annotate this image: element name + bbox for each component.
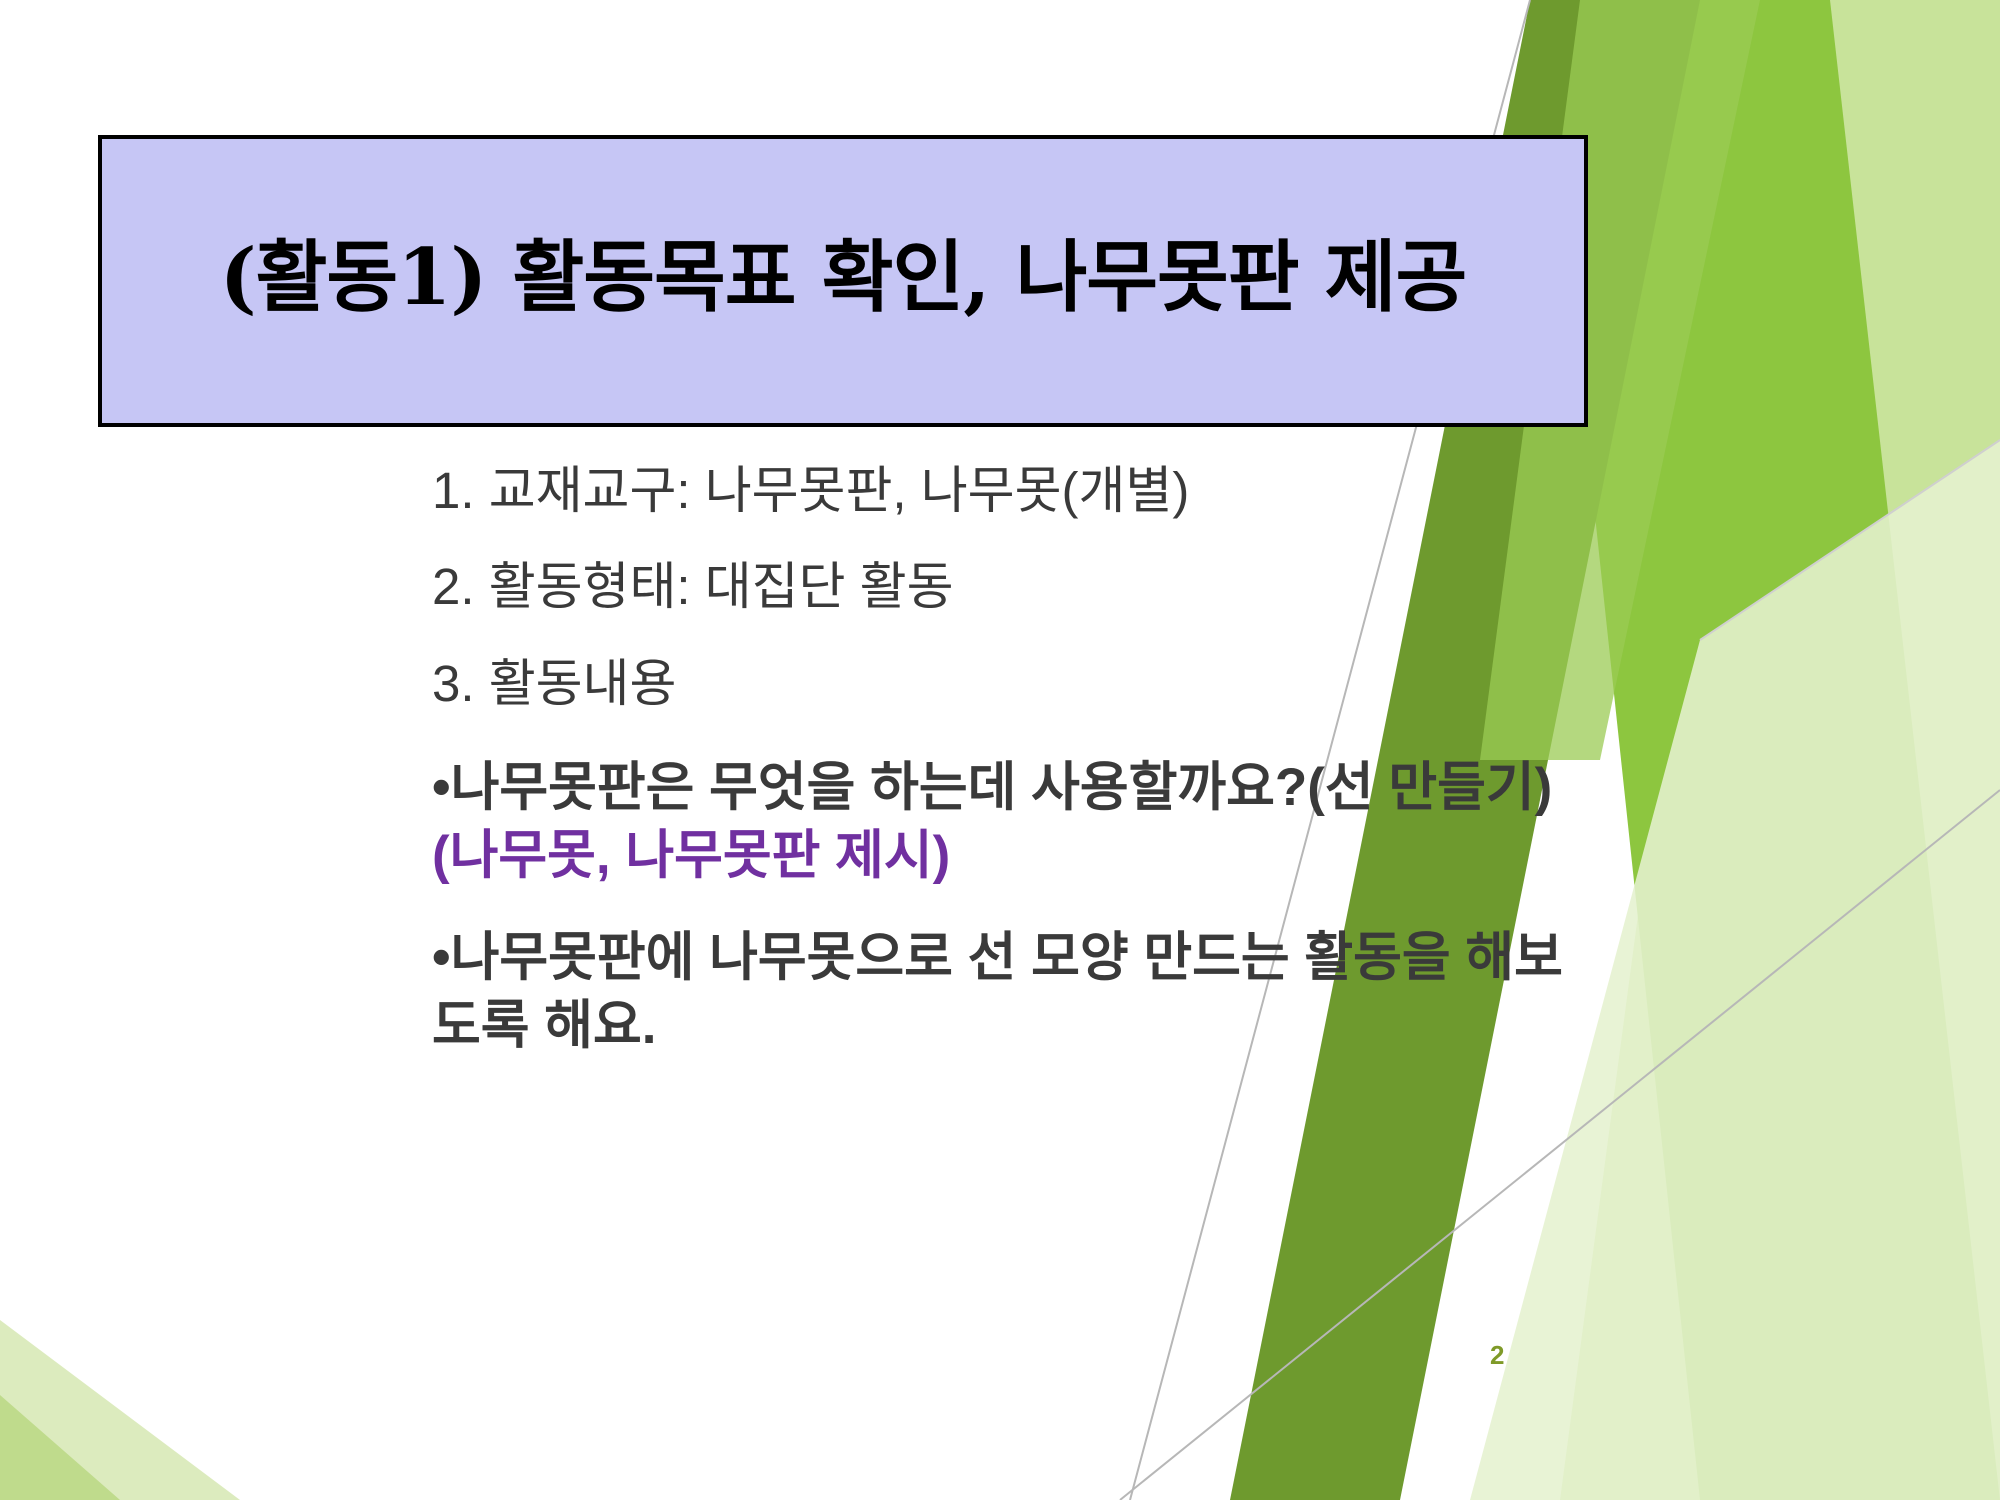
- list-item: 2. 활동형태: 대집단 활동: [432, 551, 1592, 623]
- slide-body: 1. 교재교구: 나무못판, 나무못(개별) 2. 활동형태: 대집단 활동 3…: [432, 455, 1592, 1082]
- page-title: (활동1) 활동목표 확인, 나무못판 제공: [220, 237, 1467, 325]
- bullet-item: •나무못판은 무엇을 하는데 사용할까요?(선 만들기)(나무못, 나무못판 제…: [432, 754, 1592, 890]
- slide-title-box: (활동1) 활동목표 확인, 나무못판 제공: [98, 135, 1588, 427]
- bullet-highlight: (나무못, 나무못판 제시): [432, 826, 950, 885]
- presentation-slide: (활동1) 활동목표 확인, 나무못판 제공 1. 교재교구: 나무못판, 나무…: [0, 0, 2000, 1500]
- bullet-marker: •: [432, 928, 451, 987]
- bullet-text: 나무못판에 나무못으로 선 모양 만드는 활동을 해보도록 해요.: [432, 928, 1563, 1055]
- bullet-marker: •: [432, 758, 451, 817]
- bullet-item: •나무못판에 나무못으로 선 모양 만드는 활동을 해보도록 해요.: [432, 924, 1592, 1060]
- list-item: 3. 활동내용: [432, 648, 1592, 720]
- bullet-text: 나무못판은 무엇을 하는데 사용할까요?(선 만들기): [451, 758, 1553, 817]
- list-item: 1. 교재교구: 나무못판, 나무못(개별): [432, 455, 1592, 527]
